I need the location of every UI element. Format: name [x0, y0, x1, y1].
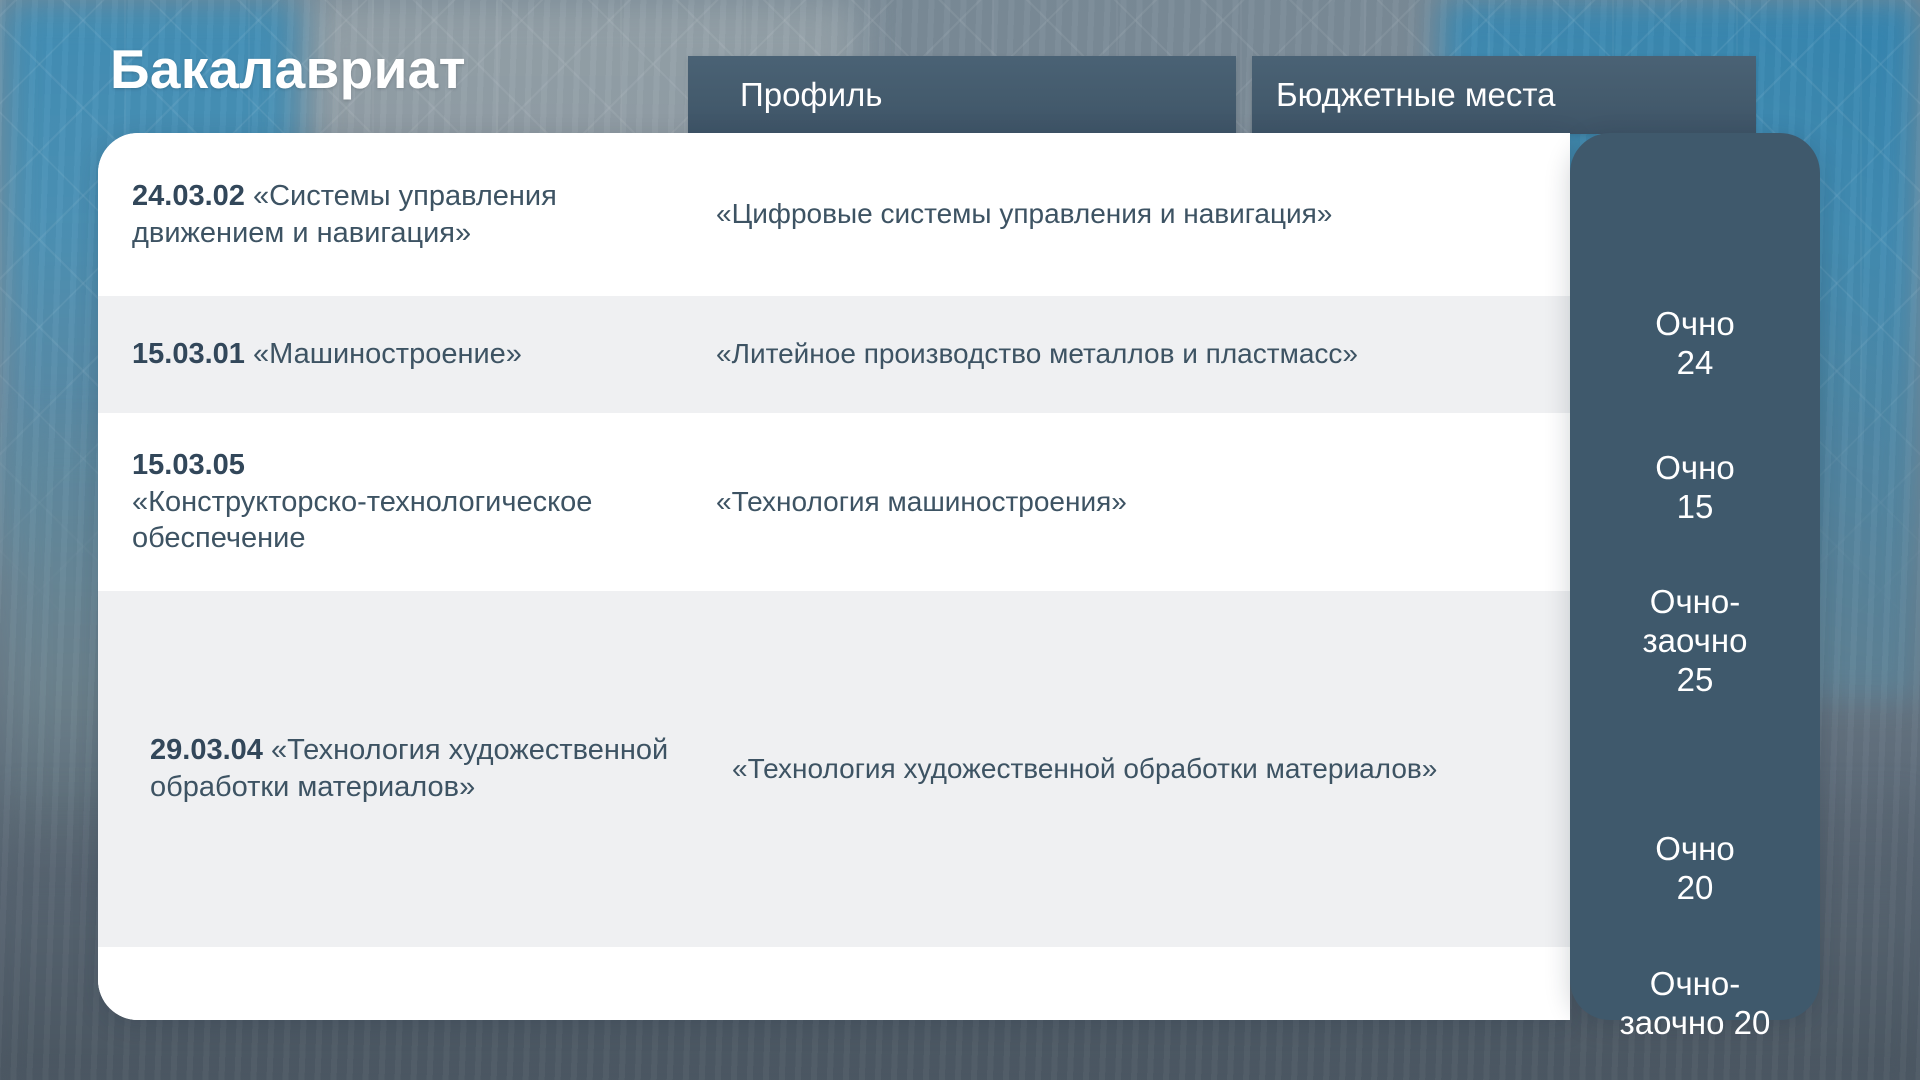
- table-cell-profile: «Литейное производство металлов и пластм…: [698, 336, 1570, 372]
- table-cell-program: 29.03.04 «Технология художественной обра…: [98, 732, 698, 806]
- program-code: 15.03.05: [132, 449, 245, 481]
- program-name: «Конструкторско-технологическое обеспече…: [132, 486, 592, 555]
- table-cell-program: 24.03.02 «Системы управления движением и…: [98, 178, 698, 252]
- table-cell-profile: «Технология художественной обработки мат…: [698, 751, 1570, 787]
- slide-root: Бакалавриат Профиль Бюджетные места 24.0…: [0, 0, 1920, 1080]
- program-name: «Машиностроение»: [253, 338, 522, 370]
- program-code: 24.03.02: [132, 180, 245, 212]
- table-row-filler: [98, 947, 1570, 1020]
- table-cell-profile: «Технология машиностроения»: [698, 484, 1570, 520]
- programs-table-card: 24.03.02 «Системы управления движением и…: [98, 133, 1570, 1020]
- table-row[interactable]: 24.03.02 «Системы управления движением и…: [98, 133, 1570, 296]
- table-row[interactable]: 15.03.05 «Конструкторско-технологическое…: [98, 413, 1570, 591]
- table-cell-program: 15.03.01 «Машиностроение»: [98, 336, 698, 373]
- seats-value: Очно 20: [1570, 830, 1820, 908]
- tab-budget-seats-label: Бюджетные места: [1276, 76, 1556, 114]
- tab-profile-label: Профиль: [740, 76, 882, 114]
- program-code: 29.03.04: [150, 734, 263, 766]
- page-title: Бакалавриат: [110, 37, 466, 101]
- table-cell-profile: «Цифровые системы управления и навигация…: [698, 196, 1570, 232]
- seats-value: Очно 24: [1570, 305, 1820, 383]
- seats-value-secondary: Очно- заочно 20: [1570, 965, 1820, 1043]
- table-row[interactable]: 15.03.01 «Машиностроение» «Литейное прои…: [98, 296, 1570, 413]
- seats-value: Очно- заочно 25: [1570, 583, 1820, 700]
- program-code: 15.03.01: [132, 338, 245, 370]
- table-row[interactable]: 29.03.04 «Технология художественной обра…: [98, 591, 1570, 947]
- table-cell-program: 15.03.05 «Конструкторско-технологическое…: [98, 447, 698, 557]
- budget-seats-panel: Очно 24 Очно 15 Очно- заочно 25 Очно 20 …: [1570, 133, 1820, 1020]
- tab-budget-seats[interactable]: Бюджетные места: [1252, 56, 1756, 134]
- seats-value: Очно 15: [1570, 449, 1820, 527]
- tab-profile[interactable]: Профиль: [688, 56, 1236, 134]
